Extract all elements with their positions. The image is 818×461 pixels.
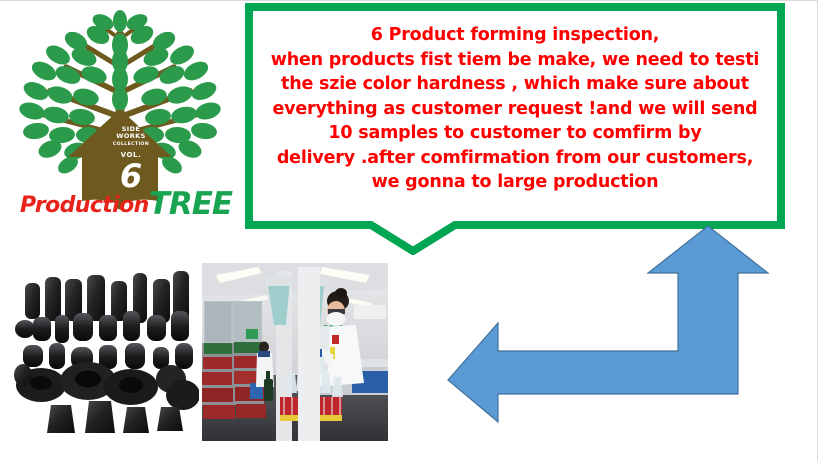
bent-double-arrow	[440, 223, 810, 435]
bent-double-arrow-shape	[448, 226, 768, 422]
laboratory-inspection-photo	[202, 263, 388, 441]
svg-text:WORKS: WORKS	[116, 132, 145, 140]
callout-bubble: 6 Product forming inspection, when produ…	[245, 3, 785, 255]
slide-canvas: SIDE WORKS COLLECTION VOL. 6 ProductionT…	[0, 0, 818, 461]
callout-text: 6 Product forming inspection, when produ…	[253, 23, 777, 195]
svg-text:COLLECTION: COLLECTION	[113, 141, 149, 147]
rubber-parts-photo	[3, 253, 199, 449]
logo-wordmark-production: Production	[20, 193, 149, 218]
logo-wordmark: ProductionTREE	[20, 188, 230, 220]
production-tree-logo: SIDE WORKS COLLECTION VOL. 6 ProductionT…	[6, 5, 234, 227]
logo-wordmark-tree: TREE	[149, 186, 232, 222]
